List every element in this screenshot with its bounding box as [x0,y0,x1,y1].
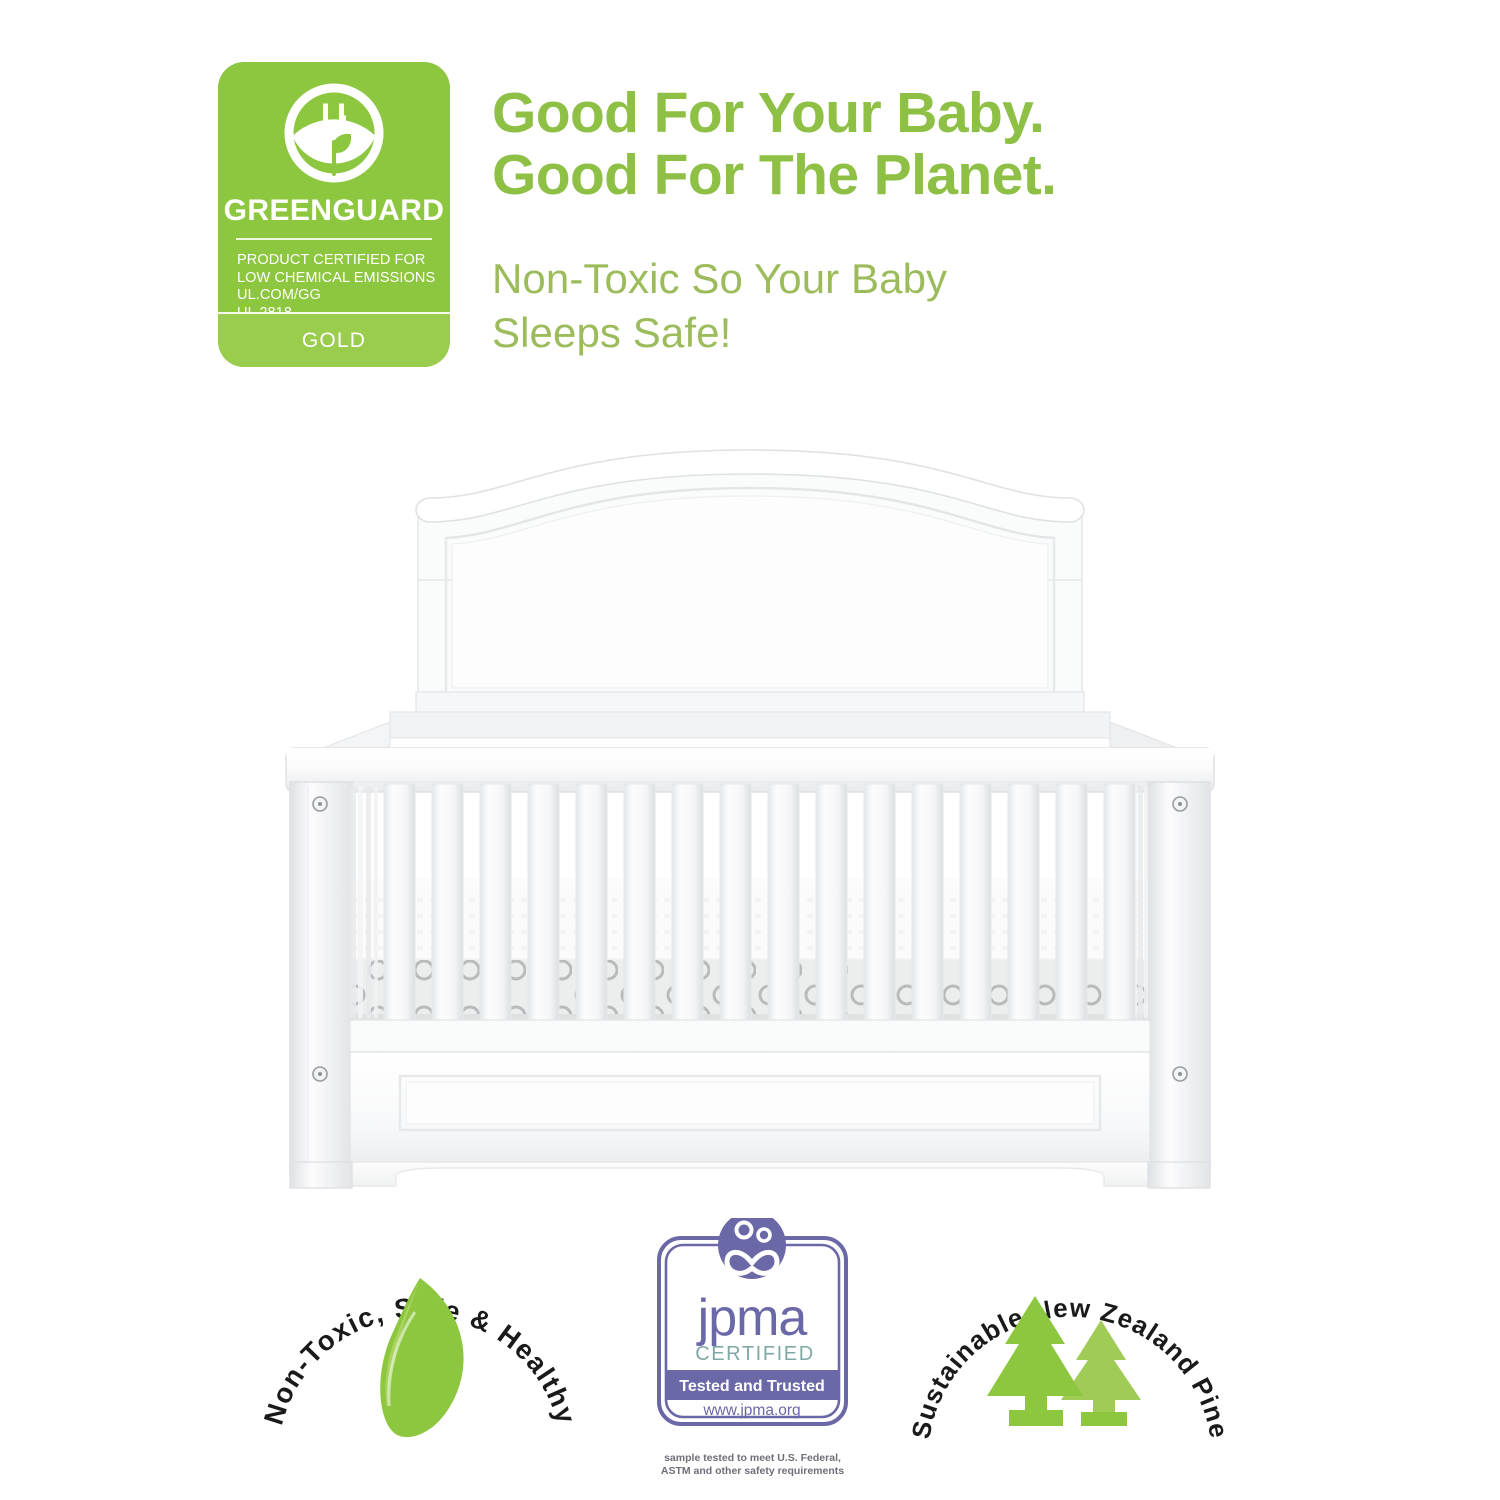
ul-greenguard-leaf-icon: U L [279,78,389,188]
greenguard-gold-badge: U L GREENGUARD PRODUCT CERTIFIED FOR LOW… [218,62,450,367]
crib-product-image [250,430,1250,1190]
crib-lower-panel [350,1020,1150,1162]
crib-corner-post-right [1148,782,1210,1172]
jpma-banner-text: Tested and Trusted [679,1378,825,1395]
headline: Good For Your Baby. Good For The Planet. [492,82,1292,206]
jpma-certified-badge: jpma CERTIFIED Tested and Trusted www.jp… [645,1218,860,1478]
subheadline: Non-Toxic So Your Baby Sleeps Safe! [492,252,1192,360]
parent-child-heart-icon [718,1218,786,1279]
greenguard-detail-line: UL.COM/GG [237,287,436,305]
svg-text:Sustainable New Zealand Pine: Sustainable New Zealand Pine [905,1292,1234,1441]
jpma-disclaimer-line-2: ASTM and other safety requirements [645,1465,860,1478]
jpma-certified-label: CERTIFIED [695,1343,815,1365]
marketing-image-canvas: U L GREENGUARD PRODUCT CERTIFIED FOR LOW… [0,0,1500,1500]
greenguard-detail-line: LOW CHEMICAL EMISSIONS [237,270,436,288]
greenguard-detail-line: PRODUCT CERTIFIED FOR [237,252,436,270]
greenguard-level-label: GOLD [302,329,366,353]
headline-line-1: Good For Your Baby. [492,82,1292,144]
jpma-website: www.jpma.org [702,1402,800,1419]
greenguard-title: GREENGUARD [218,194,450,228]
jpma-disclaimer-line-1: sample tested to meet U.S. Federal, [645,1452,860,1465]
jpma-wordmark: jpma [696,1289,808,1347]
subheadline-line-2: Sleeps Safe! [492,306,1192,360]
certification-badge-row: Non-Toxic, Safe & Healthy [0,1210,1500,1490]
greenguard-level-band: GOLD [218,312,450,367]
crib-corner-post-left [290,782,352,1172]
crib-base-arch [290,1162,1210,1188]
sustainable-nz-pine-badge: Sustainable New Zealand Pine [905,1220,1235,1460]
subheadline-line-1: Non-Toxic So Your Baby [492,252,1192,306]
pine-arc-text: Sustainable New Zealand Pine [905,1292,1234,1441]
crib-headboard [416,450,1084,714]
crib-leg-left [290,1162,352,1188]
non-toxic-safe-healthy-badge: Non-Toxic, Safe & Healthy [255,1220,585,1460]
crib-leg-right [1148,1162,1210,1188]
jpma-disclaimer: sample tested to meet U.S. Federal, ASTM… [645,1452,860,1478]
headline-line-2: Good For The Planet. [492,144,1292,206]
greenguard-divider [236,238,432,240]
crib-top-rail [286,712,1214,792]
